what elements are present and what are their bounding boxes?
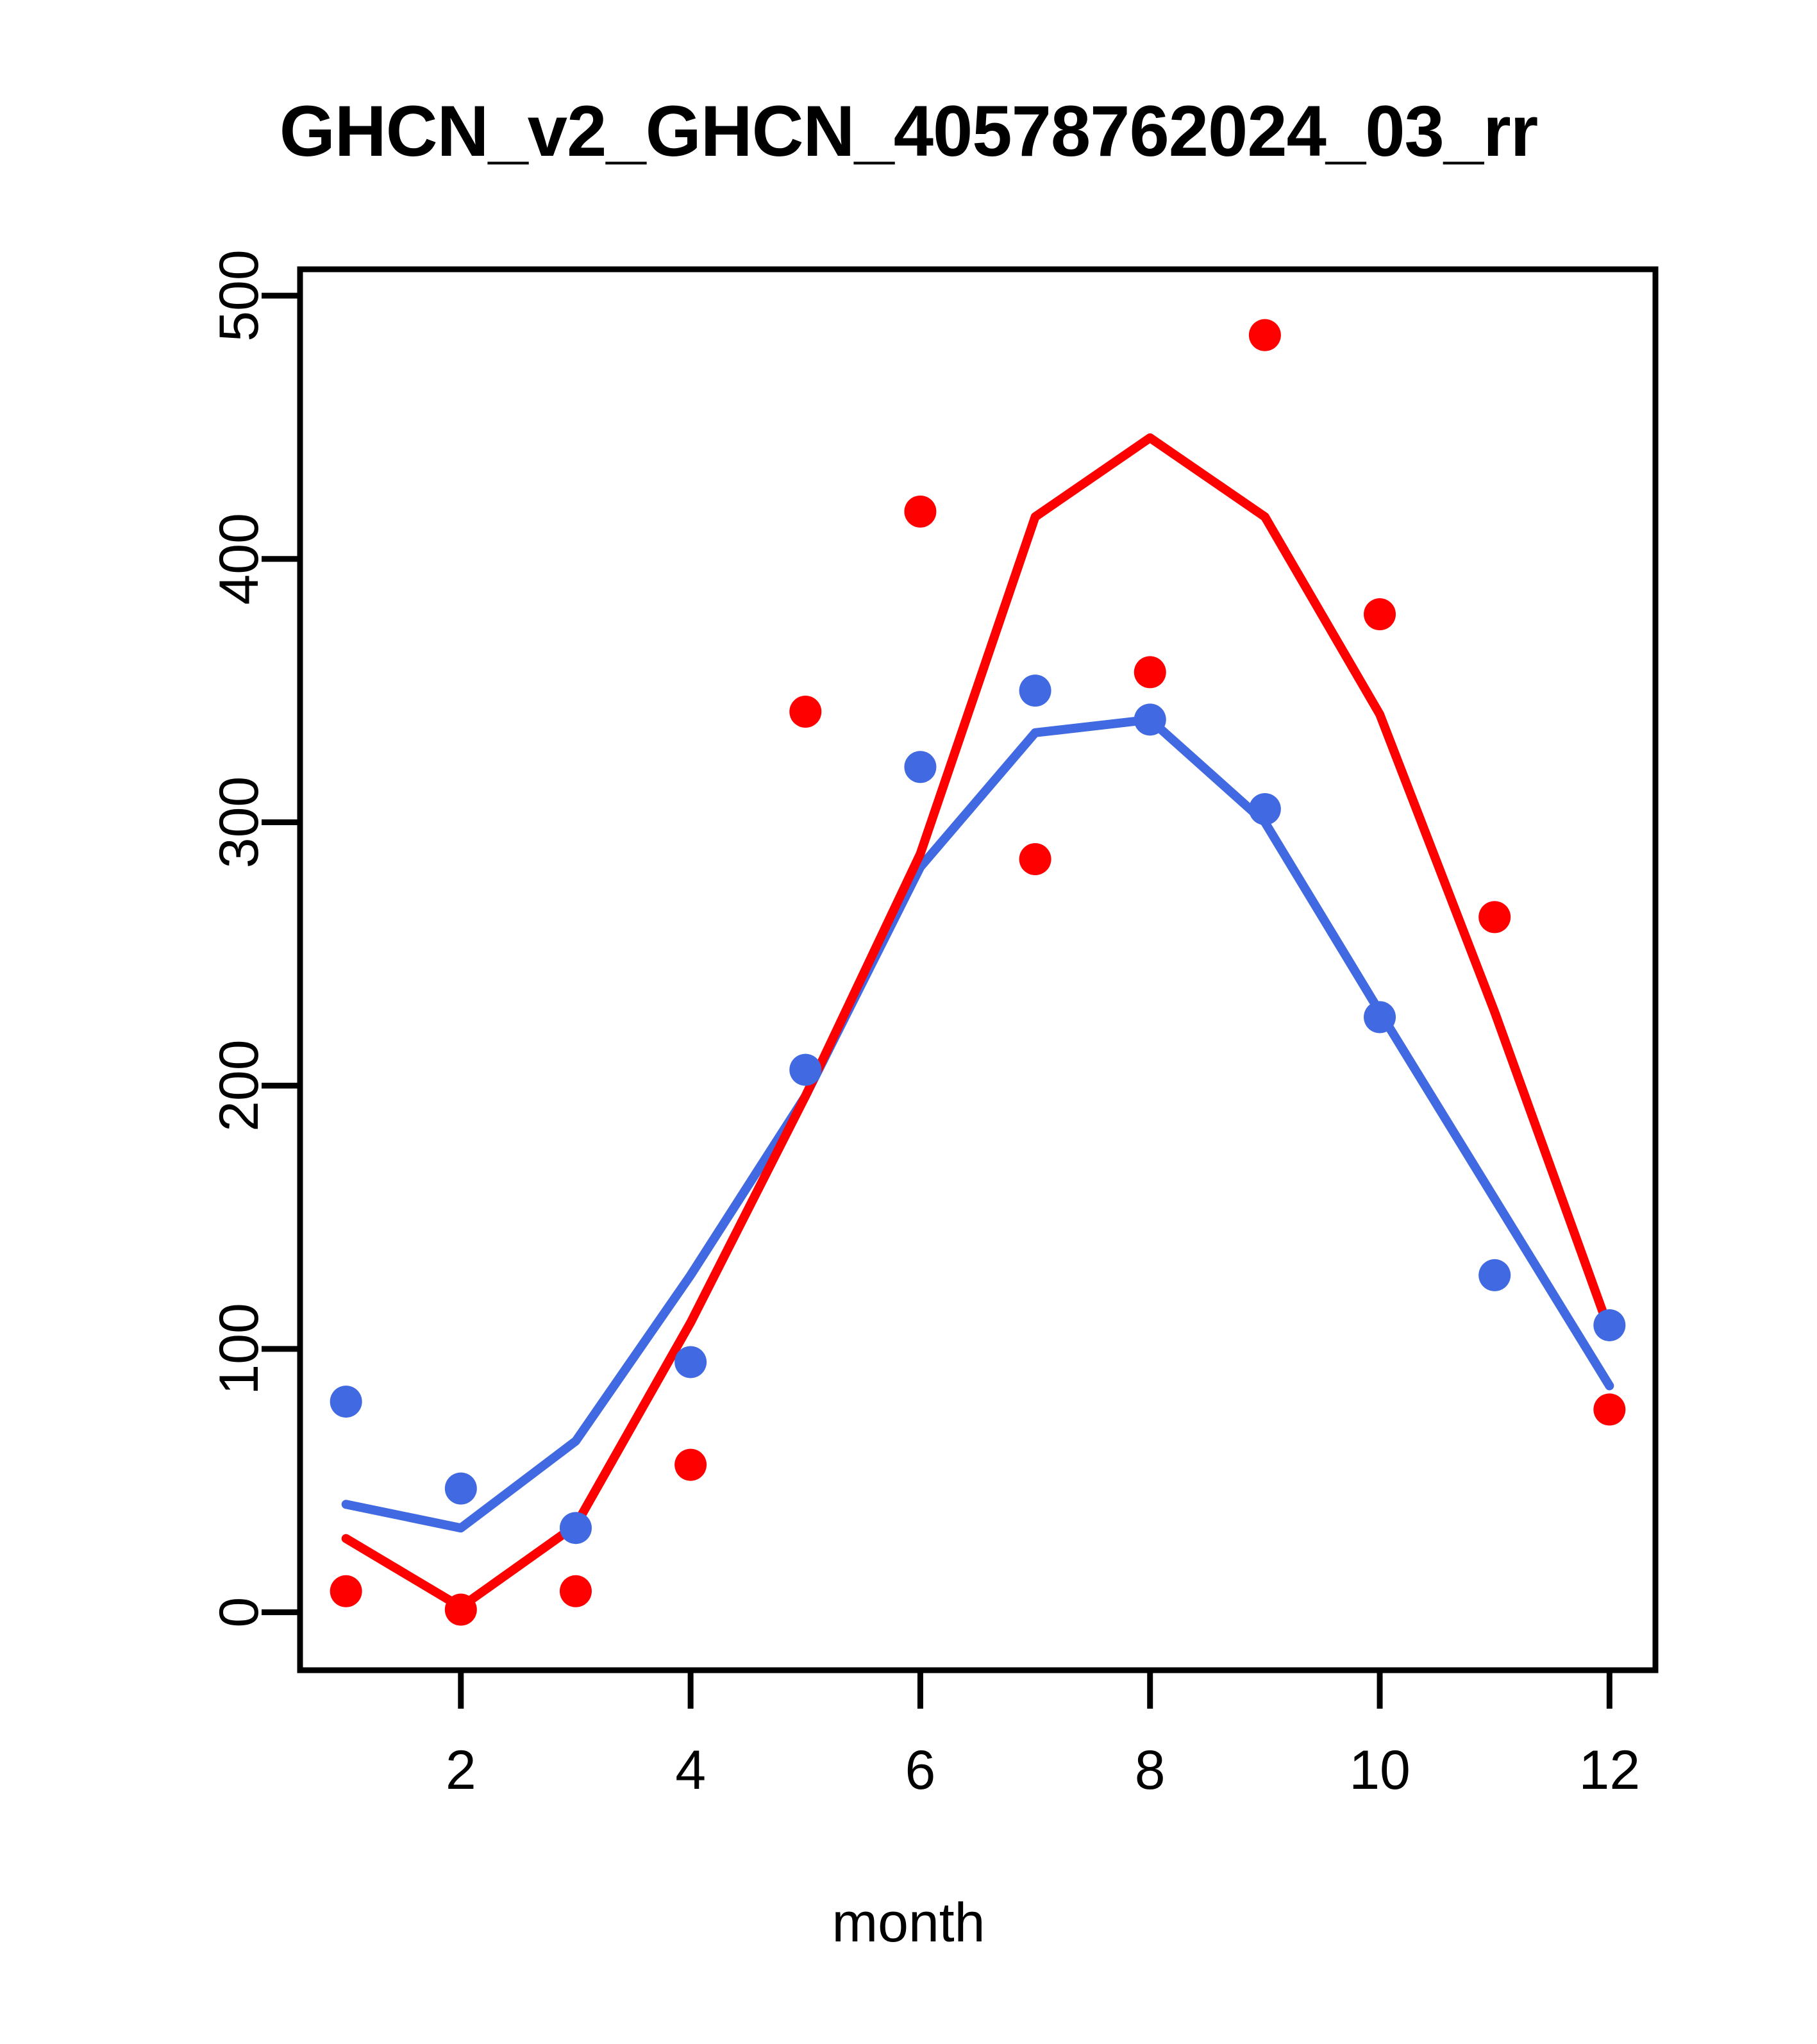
y-axis-ticks [262, 296, 300, 1613]
data-point-red-points [1478, 901, 1511, 933]
series-line-blue-line [346, 719, 1610, 1528]
data-point-red-points [1134, 656, 1166, 688]
data-point-red-points [1364, 598, 1396, 630]
series-lines [346, 438, 1610, 1607]
data-point-red-points [789, 696, 821, 728]
plot-area: 0100200300400500 24681012 [0, 0, 1817, 2044]
x-tick-label: 4 [675, 1739, 706, 1801]
axis-frame [300, 269, 1655, 1670]
data-point-blue-points [1593, 1309, 1625, 1341]
data-point-red-points [1019, 843, 1051, 875]
data-point-blue-points [1249, 793, 1281, 825]
data-point-red-points [1249, 319, 1281, 351]
series-points [330, 319, 1626, 1626]
data-point-red-points [560, 1575, 592, 1607]
data-point-blue-points [1478, 1259, 1511, 1291]
data-point-blue-points [1364, 1001, 1396, 1033]
x-axis-tick-labels: 24681012 [446, 1739, 1640, 1801]
data-point-blue-points [1134, 703, 1166, 735]
series-line-red-line [346, 438, 1610, 1607]
data-point-red-points [1593, 1393, 1625, 1425]
data-point-red-points [445, 1594, 477, 1626]
chart-figure: GHCN_v2_GHCN_40578762024_03_rr 010020030… [0, 0, 1817, 2044]
x-tick-label: 2 [446, 1739, 476, 1801]
x-axis-ticks [461, 1670, 1610, 1709]
data-point-blue-points [674, 1346, 707, 1378]
data-point-blue-points [1019, 674, 1051, 707]
x-tick-label: 10 [1349, 1739, 1411, 1801]
y-tick-label: 300 [208, 776, 270, 869]
x-tick-label: 12 [1579, 1739, 1641, 1801]
y-tick-label: 400 [208, 513, 270, 605]
data-point-blue-points [904, 751, 936, 783]
data-point-red-points [330, 1575, 362, 1607]
data-point-red-points [674, 1449, 707, 1481]
data-point-blue-points [445, 1473, 477, 1505]
y-tick-label: 100 [208, 1303, 270, 1395]
data-point-blue-points [330, 1386, 362, 1418]
x-axis-label: month [0, 1891, 1817, 1955]
x-tick-label: 6 [905, 1739, 936, 1801]
plot-box [300, 269, 1655, 1670]
y-tick-label: 500 [208, 249, 270, 341]
data-point-red-points [904, 496, 936, 528]
y-tick-label: 200 [208, 1039, 270, 1132]
y-tick-label: 0 [208, 1597, 270, 1628]
data-point-blue-points [789, 1054, 821, 1086]
x-tick-label: 8 [1135, 1739, 1166, 1801]
data-point-blue-points [560, 1512, 592, 1544]
y-axis-tick-labels: 0100200300400500 [208, 249, 270, 1627]
